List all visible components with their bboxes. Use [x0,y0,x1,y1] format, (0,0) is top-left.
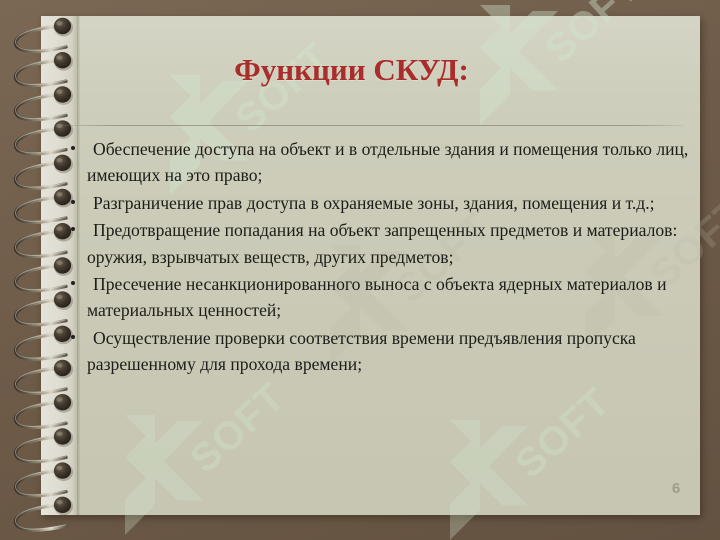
bullet-item: Предотвращение попадания на объект запре… [62,217,692,270]
bullet-item: Пресечение несанкционированного выноса с… [62,271,692,324]
page-title: Функции СКУД: [64,36,639,88]
presentation-slide: SOFT SOFT SOFT [0,0,720,540]
title-area: Функции СКУД: [64,36,639,114]
slide-body: Обеспечение доступа на объект и в отдель… [62,136,692,379]
bullet-item: Разграничение прав доступа в охраняемые … [62,190,692,216]
bullet-list: Обеспечение доступа на объект и в отдель… [62,136,692,378]
title-divider [62,125,683,126]
page-number: 6 [664,480,688,497]
bullet-item: Осуществление проверки соответствия врем… [62,325,692,378]
bullet-item: Обеспечение доступа на объект и в отдель… [62,136,692,189]
